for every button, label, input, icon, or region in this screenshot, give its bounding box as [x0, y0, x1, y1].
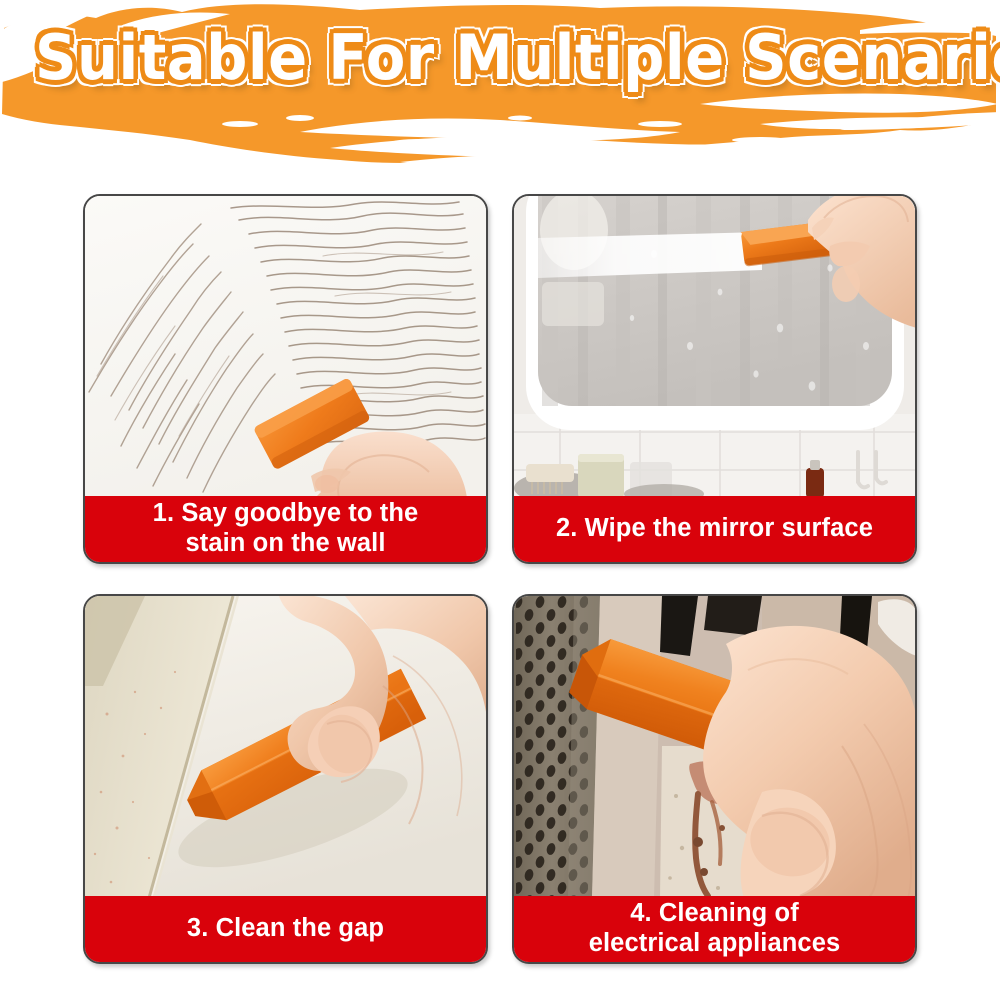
page-title: Suitable For Multiple Scenarios: [35, 19, 965, 97]
scenario-card-1[interactable]: 1. Say goodbye to the stain on the wall: [83, 194, 488, 564]
caption-line: 4. Cleaning of: [630, 899, 799, 929]
caption-line: electrical appliances: [589, 929, 841, 959]
scenario-card-2[interactable]: 2. Wipe the mirror surface: [512, 194, 917, 564]
infographic-page: Suitable For Multiple Scenarios: [0, 0, 1000, 1000]
header-banner: Suitable For Multiple Scenarios: [0, 0, 1000, 190]
photo-wall-stain: [85, 196, 486, 498]
scenario-grid: 1. Say goodbye to the stain on the wall: [83, 194, 917, 964]
scenario-card-4[interactable]: 4. Cleaning of electrical appliances: [512, 594, 917, 964]
photo-gap: [85, 596, 486, 898]
caption-line: 2. Wipe the mirror surface: [556, 514, 873, 544]
caption-line: 3. Clean the gap: [187, 914, 384, 944]
photo-mirror: [514, 196, 915, 498]
caption-line: stain on the wall: [185, 529, 385, 559]
caption-bar-1: 1. Say goodbye to the stain on the wall: [85, 496, 486, 562]
caption-line: 1. Say goodbye to the: [153, 499, 419, 529]
scenario-card-3[interactable]: 3. Clean the gap: [83, 594, 488, 964]
caption-bar-2: 2. Wipe the mirror surface: [514, 496, 915, 562]
caption-bar-4: 4. Cleaning of electrical appliances: [514, 896, 915, 962]
caption-bar-3: 3. Clean the gap: [85, 896, 486, 962]
photo-appliance: [514, 596, 915, 898]
